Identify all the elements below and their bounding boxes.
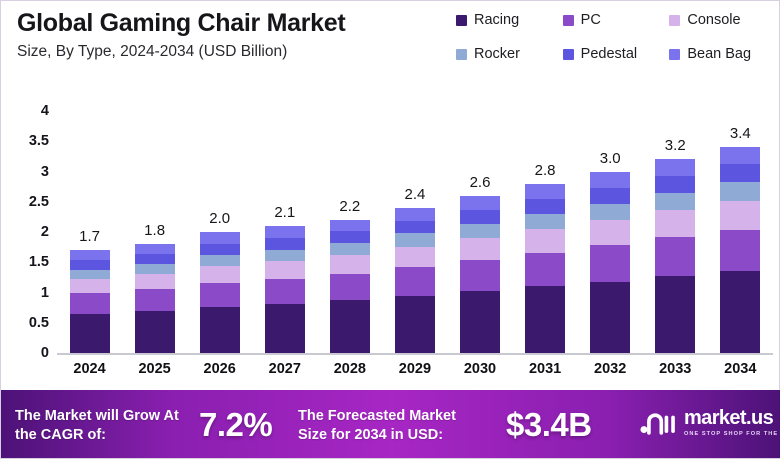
x-axis-label: 2034 — [717, 361, 763, 385]
legend-swatch-icon — [563, 49, 574, 60]
bar-segment[interactable] — [135, 244, 175, 254]
brand-text-block: market.us ONE STOP SHOP FOR THE REPORTS — [684, 408, 780, 437]
bar-segment[interactable] — [720, 271, 760, 353]
y-axis: 00.511.522.533.54 — [1, 85, 57, 353]
bar-segment[interactable] — [135, 274, 175, 289]
bar-group[interactable]: 2.8 — [522, 85, 568, 353]
bar-group[interactable]: 2.0 — [197, 85, 243, 353]
bar-total-label: 2.0 — [209, 210, 230, 227]
x-axis-label: 2030 — [457, 361, 503, 385]
bar-stack — [525, 184, 565, 353]
bar-group[interactable]: 1.7 — [67, 85, 113, 353]
bar-segment[interactable] — [525, 229, 565, 253]
y-axis-tick: 1.5 — [29, 254, 49, 270]
x-axis-line — [57, 353, 773, 355]
x-axis-label: 2033 — [652, 361, 698, 385]
brand-logo[interactable]: market.us ONE STOP SHOP FOR THE REPORTS — [639, 408, 780, 437]
bar-stack — [135, 244, 175, 353]
market-us-logo-icon — [639, 409, 677, 437]
x-axis-label: 2028 — [327, 361, 373, 385]
legend-label: Racing — [474, 12, 519, 28]
bar-segment[interactable] — [265, 226, 305, 238]
bar-segment[interactable] — [590, 172, 630, 188]
y-axis-tick: 4 — [41, 103, 49, 119]
bar-group[interactable]: 2.4 — [392, 85, 438, 353]
bar-stack — [395, 208, 435, 353]
chart-header: Global Gaming Chair Market Size, By Type… — [1, 1, 780, 85]
bar-stack — [330, 220, 370, 353]
legend-item-rocker[interactable]: Rocker — [456, 46, 563, 62]
y-axis-tick: 2.5 — [29, 194, 49, 210]
bar-segment[interactable] — [330, 300, 370, 353]
bar-segment[interactable] — [720, 201, 760, 230]
bar-total-label: 1.8 — [144, 222, 165, 239]
bar-segment[interactable] — [460, 224, 500, 238]
bar-segment[interactable] — [460, 210, 500, 224]
legend-swatch-icon — [456, 49, 467, 60]
bar-stack — [200, 232, 240, 353]
y-axis-tick: 3 — [41, 164, 49, 180]
legend-swatch-icon — [563, 15, 574, 26]
bar-segment[interactable] — [460, 196, 500, 211]
y-axis-tick: 3.5 — [29, 133, 49, 149]
cagr-value: 7.2% — [199, 406, 272, 444]
cagr-label: The Market will Grow At the CAGR of: — [15, 407, 195, 444]
bar-stack — [70, 250, 110, 353]
bar-stack — [720, 147, 760, 353]
bar-segment[interactable] — [395, 247, 435, 268]
bar-segment[interactable] — [70, 293, 110, 314]
bar-segment[interactable] — [655, 193, 695, 211]
bar-segment[interactable] — [200, 255, 240, 266]
forecast-size-label: The Forecasted Market Size for 2034 in U… — [298, 407, 488, 444]
bar-segment[interactable] — [655, 176, 695, 193]
chart-plot-area: 00.511.522.533.54 1.71.82.02.12.22.42.62… — [1, 85, 780, 385]
bar-segment[interactable] — [330, 220, 370, 231]
legend-item-console[interactable]: Console — [669, 12, 776, 28]
y-axis-tick: 0 — [41, 345, 49, 361]
bar-stack — [655, 159, 695, 353]
bar-segment[interactable] — [460, 238, 500, 260]
legend-row-1: Racing PC Console — [456, 12, 776, 46]
bar-total-label: 2.6 — [470, 174, 491, 191]
bar-segment[interactable] — [395, 233, 435, 246]
page-subtitle: Size, By Type, 2024-2034 (USD Billion) — [17, 43, 287, 61]
legend-label: Pedestal — [581, 46, 637, 62]
x-axis-label: 2029 — [392, 361, 438, 385]
infographic-root: Global Gaming Chair Market Size, By Type… — [0, 0, 780, 459]
bar-segment[interactable] — [590, 245, 630, 281]
bar-segment[interactable] — [655, 276, 695, 353]
bar-group[interactable]: 3.0 — [587, 85, 633, 353]
legend-item-bean-bag[interactable]: Bean Bag — [669, 46, 776, 62]
bar-group[interactable]: 2.1 — [262, 85, 308, 353]
bar-total-label: 2.2 — [339, 198, 360, 215]
legend-row-2: Rocker Pedestal Bean Bag — [456, 46, 776, 80]
bar-segment[interactable] — [200, 266, 240, 283]
bar-segment[interactable] — [590, 204, 630, 220]
bar-stack — [460, 196, 500, 353]
bar-segment[interactable] — [135, 289, 175, 311]
bar-group[interactable]: 2.6 — [457, 85, 503, 353]
bar-segment[interactable] — [590, 220, 630, 245]
legend-swatch-icon — [456, 15, 467, 26]
bar-segment[interactable] — [70, 250, 110, 260]
legend-label: Bean Bag — [687, 46, 751, 62]
x-axis-label: 2025 — [132, 361, 178, 385]
bar-segment[interactable] — [655, 237, 695, 276]
legend-label: Rocker — [474, 46, 520, 62]
bar-segment[interactable] — [70, 260, 110, 269]
bar-segment[interactable] — [525, 199, 565, 214]
bar-segment[interactable] — [265, 304, 305, 353]
bar-segment[interactable] — [330, 274, 370, 301]
bar-segment[interactable] — [525, 214, 565, 229]
page-title: Global Gaming Chair Market — [17, 9, 345, 38]
bar-segment[interactable] — [200, 244, 240, 255]
bar-total-label: 3.0 — [600, 150, 621, 167]
bar-segment[interactable] — [330, 231, 370, 243]
bar-segment[interactable] — [265, 238, 305, 249]
bar-total-label: 1.7 — [79, 228, 100, 245]
bar-segment[interactable] — [460, 291, 500, 353]
bar-segment[interactable] — [395, 267, 435, 296]
brand-tagline: ONE STOP SHOP FOR THE REPORTS — [684, 431, 780, 437]
bar-segment[interactable] — [720, 147, 760, 164]
bar-series-container: 1.71.82.02.12.22.42.62.83.03.23.4 — [57, 85, 773, 353]
bar-group[interactable]: 2.2 — [327, 85, 373, 353]
bar-segment[interactable] — [265, 279, 305, 304]
bar-total-label: 2.1 — [274, 204, 295, 221]
x-axis-label: 2026 — [197, 361, 243, 385]
bar-total-label: 3.4 — [730, 125, 751, 142]
bar-segment[interactable] — [720, 230, 760, 271]
bar-segment[interactable] — [200, 307, 240, 353]
bar-segment[interactable] — [720, 182, 760, 201]
bar-segment[interactable] — [135, 311, 175, 353]
bar-segment[interactable] — [590, 188, 630, 204]
bar-segment[interactable] — [395, 296, 435, 353]
bar-segment[interactable] — [265, 250, 305, 261]
bar-segment[interactable] — [395, 221, 435, 234]
x-axis: 2024202520262027202820292030203120322033… — [57, 361, 773, 385]
footer-banner: The Market will Grow At the CAGR of: 7.2… — [1, 390, 780, 458]
bar-segment[interactable] — [720, 164, 760, 182]
bar-segment[interactable] — [70, 314, 110, 353]
legend-label: PC — [581, 12, 601, 28]
bar-group[interactable]: 3.2 — [652, 85, 698, 353]
legend-swatch-icon — [669, 49, 680, 60]
bar-segment[interactable] — [655, 159, 695, 175]
bar-segment[interactable] — [70, 279, 110, 294]
bar-segment[interactable] — [525, 253, 565, 287]
bar-segment[interactable] — [525, 184, 565, 199]
bar-total-label: 3.2 — [665, 137, 686, 154]
y-axis-tick: 0.5 — [29, 315, 49, 331]
y-axis-tick: 2 — [41, 224, 49, 240]
bar-total-label: 2.8 — [535, 162, 556, 179]
bar-segment[interactable] — [200, 232, 240, 244]
legend-item-pedestal[interactable]: Pedestal — [563, 46, 670, 62]
legend-label: Console — [687, 12, 740, 28]
x-axis-label: 2031 — [522, 361, 568, 385]
legend-item-pc[interactable]: PC — [563, 12, 670, 28]
y-axis-tick: 1 — [41, 285, 49, 301]
x-axis-label: 2032 — [587, 361, 633, 385]
bar-segment[interactable] — [460, 260, 500, 291]
bar-stack — [590, 172, 630, 353]
bar-stack — [265, 226, 305, 353]
bar-segment[interactable] — [330, 243, 370, 255]
brand-name: market.us — [684, 408, 780, 428]
bar-segment[interactable] — [590, 282, 630, 353]
bar-segment[interactable] — [525, 286, 565, 353]
legend-item-racing[interactable]: Racing — [456, 12, 563, 28]
bar-segment[interactable] — [135, 254, 175, 264]
x-axis-label: 2027 — [262, 361, 308, 385]
bar-group[interactable]: 3.4 — [717, 85, 763, 353]
forecast-size-value: $3.4B — [506, 406, 592, 444]
bar-segment[interactable] — [135, 264, 175, 274]
chart-legend: Racing PC Console Rocker Pedes — [456, 12, 776, 80]
x-axis-label: 2024 — [67, 361, 113, 385]
bar-group[interactable]: 1.8 — [132, 85, 178, 353]
bar-segment[interactable] — [70, 270, 110, 279]
bar-segment[interactable] — [265, 261, 305, 279]
legend-swatch-icon — [669, 15, 680, 26]
bar-segment[interactable] — [395, 208, 435, 221]
bar-segment[interactable] — [655, 210, 695, 237]
bar-segment[interactable] — [330, 255, 370, 274]
bar-total-label: 2.4 — [404, 186, 425, 203]
bar-segment[interactable] — [200, 283, 240, 307]
